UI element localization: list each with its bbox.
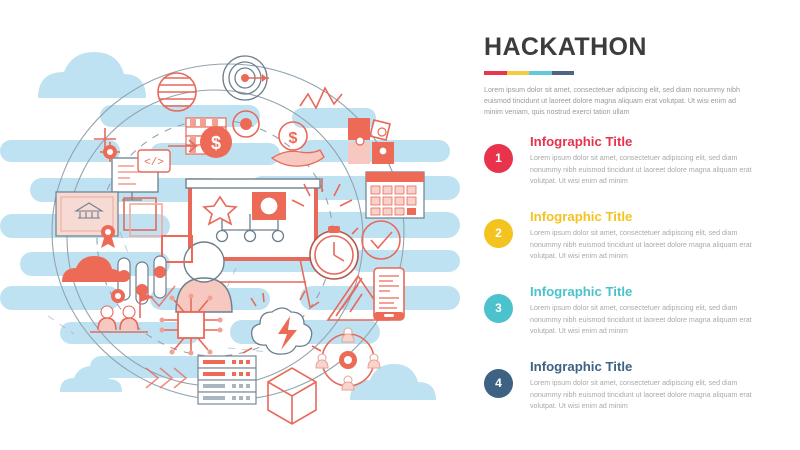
calendar-icon <box>366 172 424 218</box>
page-title: HACKATHON <box>484 34 784 62</box>
item-number-badge: 2 <box>484 219 513 248</box>
item-title: Infographic Title <box>530 284 760 301</box>
svg-text:$: $ <box>289 130 298 147</box>
svg-text:</>: </> <box>144 157 164 169</box>
intro-paragraph: Lorem ipsum dolor sit amet, consectetuer… <box>484 85 752 119</box>
infographic-list: 1 Infographic Title Lorem ipsum dolor si… <box>484 134 784 434</box>
item-text: Lorem ipsum dolor sit amet, consectetuer… <box>530 228 760 262</box>
list-item[interactable]: 2 Infographic Title Lorem ipsum dolor si… <box>484 209 784 284</box>
item-title: Infographic Title <box>530 209 760 226</box>
dollar-coin-icon-2: $ <box>279 122 307 150</box>
content-panel: HACKATHON Lorem ipsum dolor sit amet, co… <box>484 34 784 434</box>
mobile-document-icon <box>374 268 404 320</box>
item-number-badge: 1 <box>484 144 513 173</box>
divider-segment-2 <box>507 71 530 75</box>
divider-segment-3 <box>529 71 552 75</box>
svg-text:$: $ <box>211 133 221 153</box>
target-dart-icon <box>223 56 269 100</box>
item-text: Lorem ipsum dolor sit amet, consectetuer… <box>530 378 760 412</box>
server-rack-icon <box>198 356 256 404</box>
item-text: Lorem ipsum dolor sit amet, consectetuer… <box>530 153 760 187</box>
cube-3d-icon <box>268 368 316 424</box>
infographic-page: .cl { fill:#bfe2f2; } .ln { fill:none; s… <box>0 0 800 450</box>
certificate-icon <box>56 192 118 248</box>
list-item[interactable]: 3 Infographic Title Lorem ipsum dolor si… <box>484 284 784 359</box>
hackathon-illustration: .cl { fill:#bfe2f2; } .ln { fill:none; s… <box>0 0 470 450</box>
item-number-badge: 3 <box>484 294 513 323</box>
list-item[interactable]: 1 Infographic Title Lorem ipsum dolor si… <box>484 134 784 209</box>
item-number-badge: 4 <box>484 369 513 398</box>
divider-segment-1 <box>484 71 507 75</box>
zigzag-chart-icon <box>300 88 342 108</box>
item-title: Infographic Title <box>530 134 760 151</box>
accent-divider <box>484 71 574 75</box>
divider-segment-4 <box>552 71 575 75</box>
item-text: Lorem ipsum dolor sit amet, consectetuer… <box>530 303 760 337</box>
striped-planet-icon <box>158 73 196 111</box>
list-item[interactable]: 4 Infographic Title Lorem ipsum dolor si… <box>484 359 784 434</box>
dollar-coin-icon: $ <box>200 126 232 158</box>
item-title: Infographic Title <box>530 359 760 376</box>
